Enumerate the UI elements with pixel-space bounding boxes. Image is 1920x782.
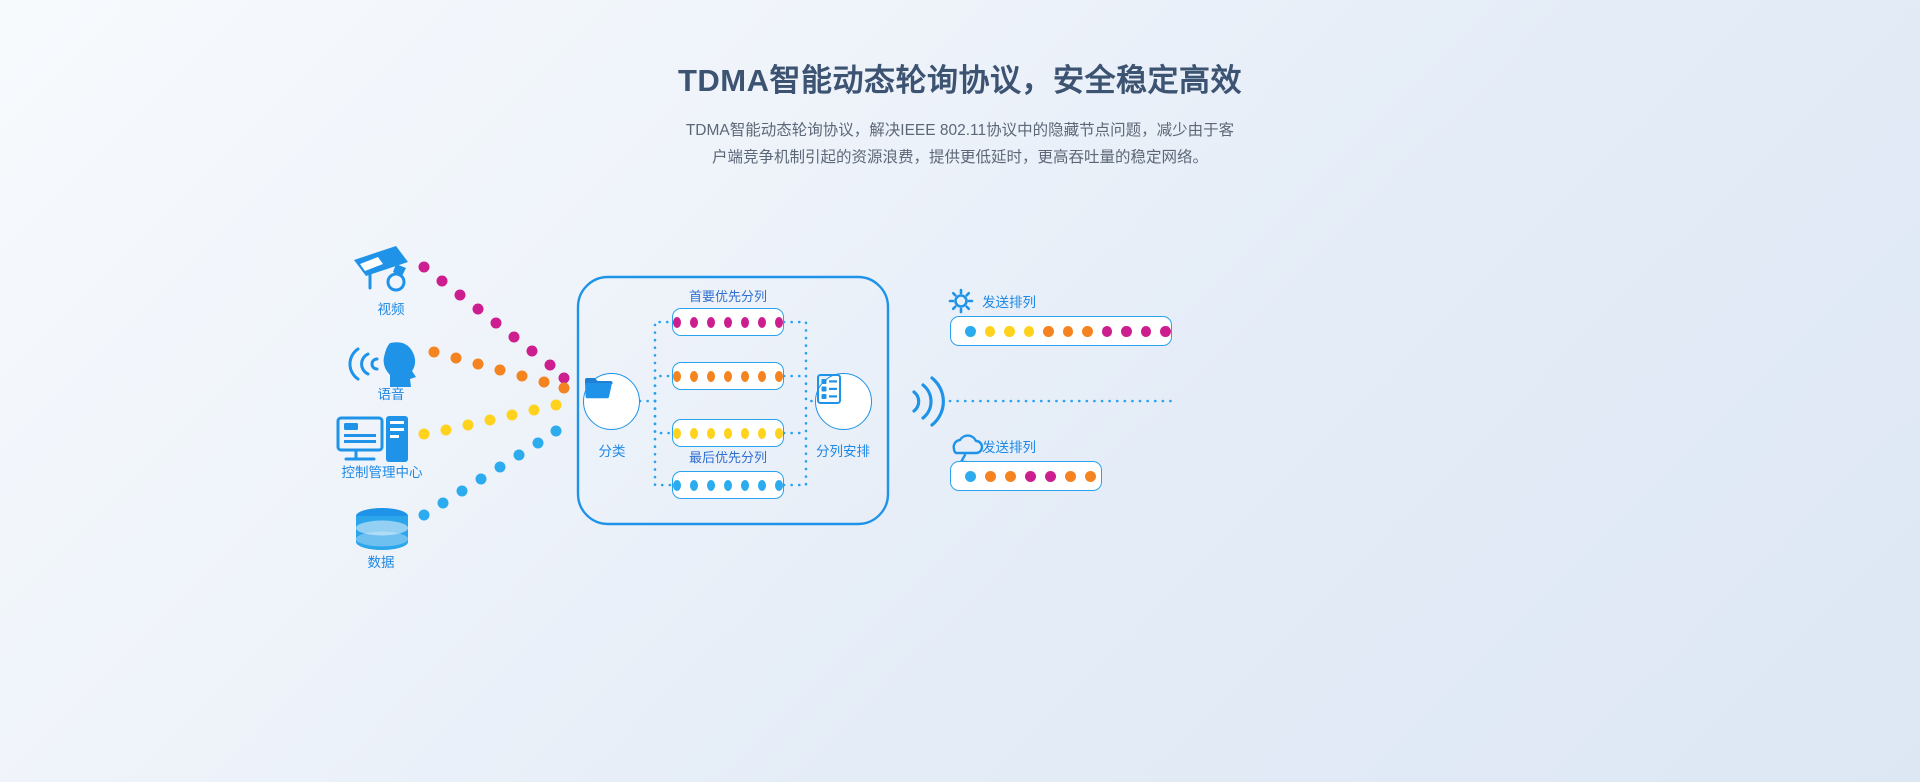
tdma-diagram: 视频 语音 控制管理中心 数据 分类 分列安排 首要优先分 (0, 0, 1920, 782)
camera-icon (354, 246, 408, 290)
output-dot (1063, 326, 1074, 337)
queue-dot (775, 480, 783, 491)
flow-line-video (419, 262, 570, 384)
output-dot (1102, 326, 1113, 337)
queue-dot (758, 480, 766, 491)
queue-dot (673, 317, 681, 328)
classifier-node[interactable] (583, 373, 640, 430)
queue-dot (690, 428, 698, 439)
queue-dot (775, 428, 783, 439)
queue-top-label: 首要优先分列 (689, 286, 767, 305)
output-label-1: 发送排列 (982, 291, 1036, 311)
classifier-label: 分类 (599, 440, 626, 460)
flow-line-control (419, 400, 562, 440)
queue-dot (775, 371, 783, 382)
output-dot (1005, 471, 1016, 482)
queue-dot (724, 317, 732, 328)
source-label-data: 数据 (368, 551, 395, 571)
sun-icon (950, 290, 972, 312)
queue-dot (707, 480, 715, 491)
output-label-2: 发送排列 (982, 436, 1036, 456)
output-dot (1121, 326, 1132, 337)
database-icon (356, 508, 408, 550)
checklist-icon (816, 374, 842, 404)
scheduler-label: 分列安排 (816, 440, 870, 460)
queue-dot (741, 371, 749, 382)
queue-dot (690, 371, 698, 382)
output-dot (965, 326, 976, 337)
queue-dot (724, 428, 732, 439)
priority-queue-2[interactable] (672, 362, 784, 390)
queue-dot (758, 371, 766, 382)
queue-dot (673, 371, 681, 382)
source-label-video: 视频 (378, 298, 405, 318)
output-dot (1065, 471, 1076, 482)
queue-dot (707, 317, 715, 328)
output-dot (1024, 326, 1035, 337)
queue-dot (741, 317, 749, 328)
folder-icon (584, 374, 614, 400)
output-dot (1025, 471, 1036, 482)
output-dot (985, 326, 996, 337)
wifi-signal-icon (914, 378, 943, 425)
page-root: TDMA智能动态轮询协议，安全稳定高效 TDMA智能动态轮询协议，解决IEEE … (0, 0, 1920, 782)
output-dot (1043, 326, 1054, 337)
queue-dot (758, 428, 766, 439)
queue-dot (724, 371, 732, 382)
output-dot (1141, 326, 1152, 337)
queue-dot (690, 317, 698, 328)
queue-dot (673, 480, 681, 491)
output-dot (1045, 471, 1056, 482)
output-dot (985, 471, 996, 482)
scheduler-connectors (784, 322, 818, 485)
classifier-connectors (640, 322, 672, 485)
output-dot (1160, 326, 1171, 337)
source-label-voice: 语音 (378, 383, 405, 403)
output-dot (965, 471, 976, 482)
queue-dot (724, 480, 732, 491)
source-label-control: 控制管理中心 (342, 461, 423, 481)
queue-dot (707, 371, 715, 382)
queue-dot (673, 428, 681, 439)
queue-dot (741, 428, 749, 439)
priority-queue-4[interactable] (672, 471, 784, 499)
queue-dot (741, 480, 749, 491)
output-bar-1[interactable] (950, 316, 1172, 346)
queue-dot (775, 317, 783, 328)
scheduler-node[interactable] (815, 373, 872, 430)
output-bar-2[interactable] (950, 461, 1102, 491)
priority-queue-1[interactable] (672, 308, 784, 336)
output-dot (1085, 471, 1096, 482)
flow-line-data (419, 426, 562, 521)
output-dot (1004, 326, 1015, 337)
control-center-icon (338, 416, 408, 462)
output-dot (1082, 326, 1093, 337)
voice-icon (350, 342, 416, 387)
queue-dot (707, 428, 715, 439)
queue-dot (690, 480, 698, 491)
queue-bottom-label: 最后优先分列 (689, 447, 767, 466)
queue-dot (758, 317, 766, 328)
flow-lines (0, 0, 1920, 782)
priority-queue-3[interactable] (672, 419, 784, 447)
